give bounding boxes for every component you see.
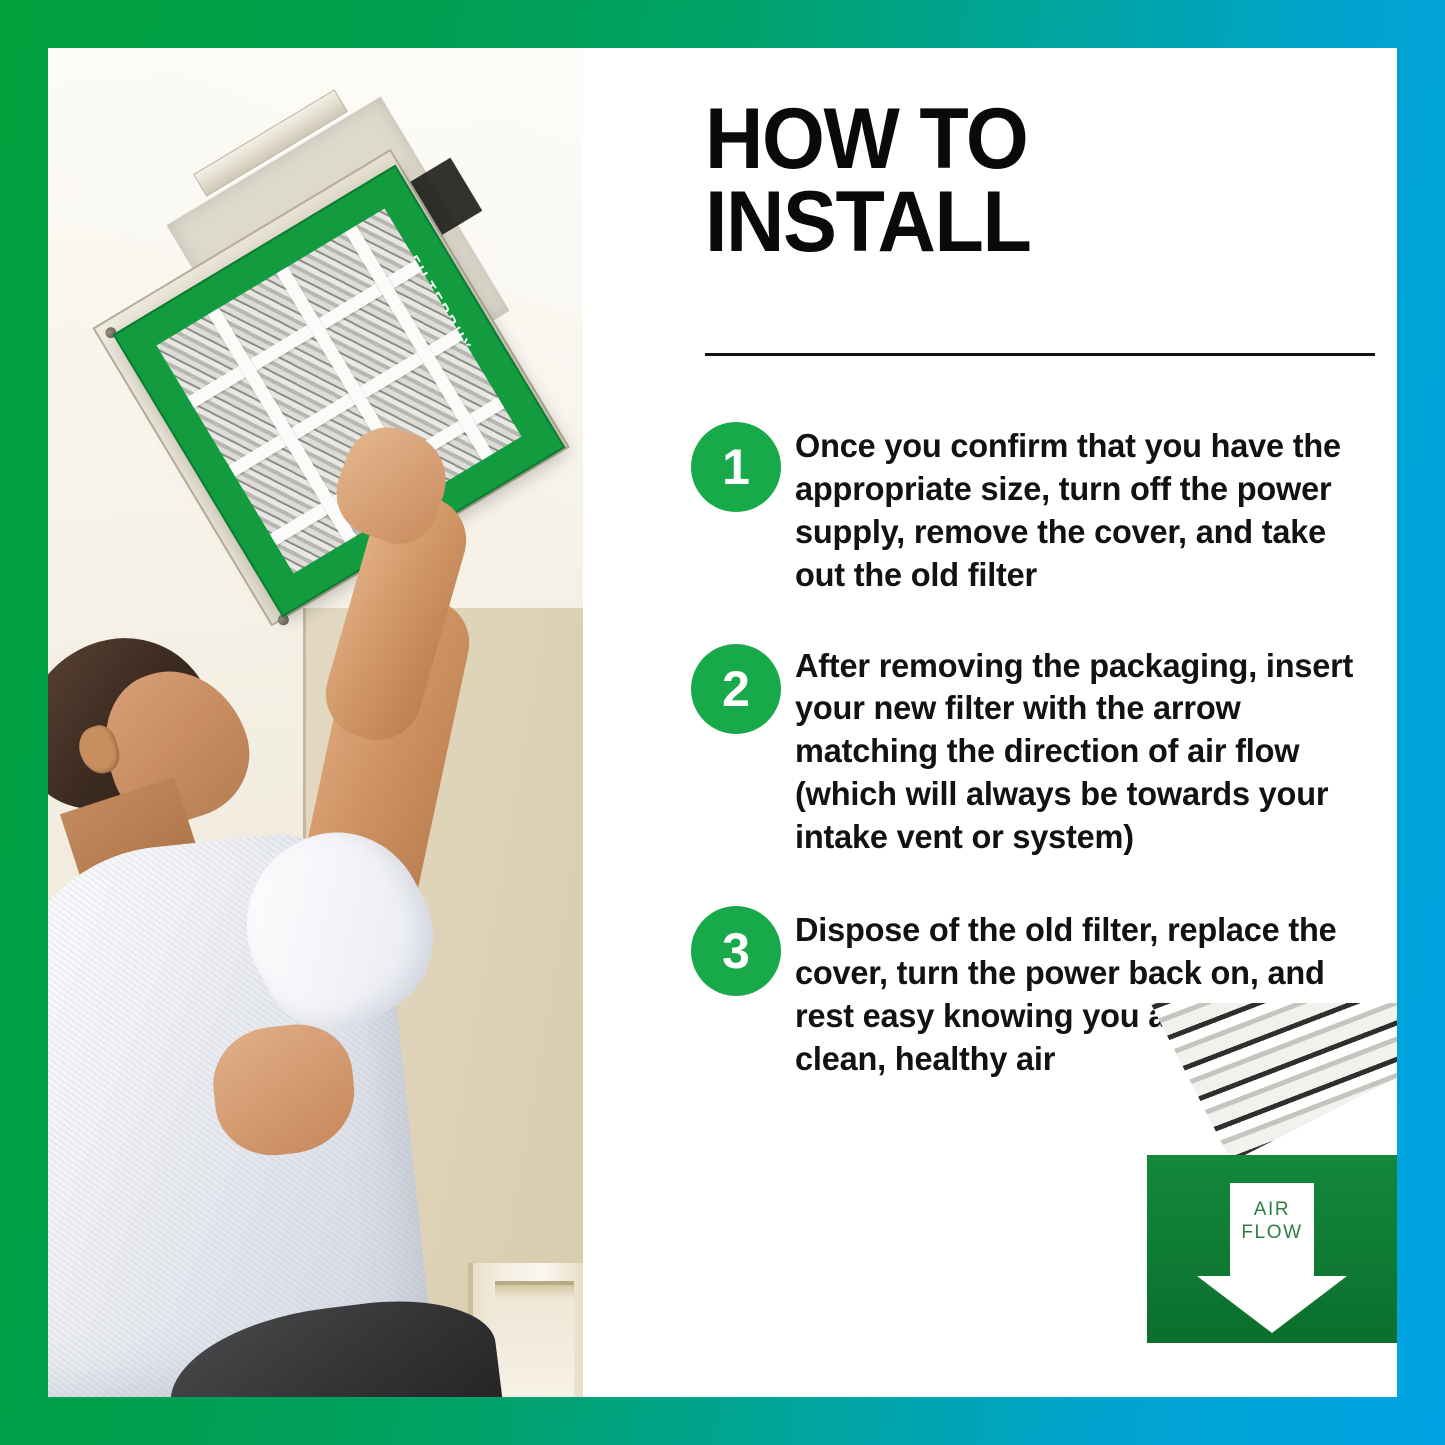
airflow-label-line-1: AIR xyxy=(1197,1199,1347,1222)
product-front-face: AIR FLOW xyxy=(1147,1155,1397,1343)
poster-root: FILTERBUY FILTERBUY xyxy=(0,0,1445,1445)
title-divider xyxy=(705,353,1375,356)
step-item: 1 Once you confirm that you have the app… xyxy=(691,420,1391,598)
airflow-label-line-2: FLOW xyxy=(1197,1222,1347,1245)
product-filter-image: FILTERBUY AIR FLOW xyxy=(1147,1003,1397,1343)
install-photo: FILTERBUY FILTERBUY xyxy=(48,48,583,1397)
product-pleated-media xyxy=(1147,1003,1397,1162)
airflow-arrow-icon: AIR FLOW xyxy=(1197,1183,1347,1333)
step-text: Once you confirm that you have the appro… xyxy=(795,420,1373,598)
page-title-line-1: HOW TO xyxy=(705,98,1307,181)
step-number-badge: 3 xyxy=(691,906,781,996)
page-title-line-2: INSTALL xyxy=(705,181,1307,264)
inner-white-card: FILTERBUY FILTERBUY xyxy=(48,48,1397,1397)
step-text: After removing the packaging, insert you… xyxy=(795,642,1373,860)
airflow-label: AIR FLOW xyxy=(1197,1199,1347,1245)
page-title: HOW TO INSTALL xyxy=(705,98,1307,263)
product-top-face: FILTERBUY xyxy=(1147,1003,1397,1162)
step-number-badge: 2 xyxy=(691,644,781,734)
content-column: HOW TO INSTALL 1 Once you confirm that y… xyxy=(583,48,1397,1397)
person-installing xyxy=(48,608,468,1397)
step-number-badge: 1 xyxy=(691,422,781,512)
step-item: 2 After removing the packaging, insert y… xyxy=(691,642,1391,860)
